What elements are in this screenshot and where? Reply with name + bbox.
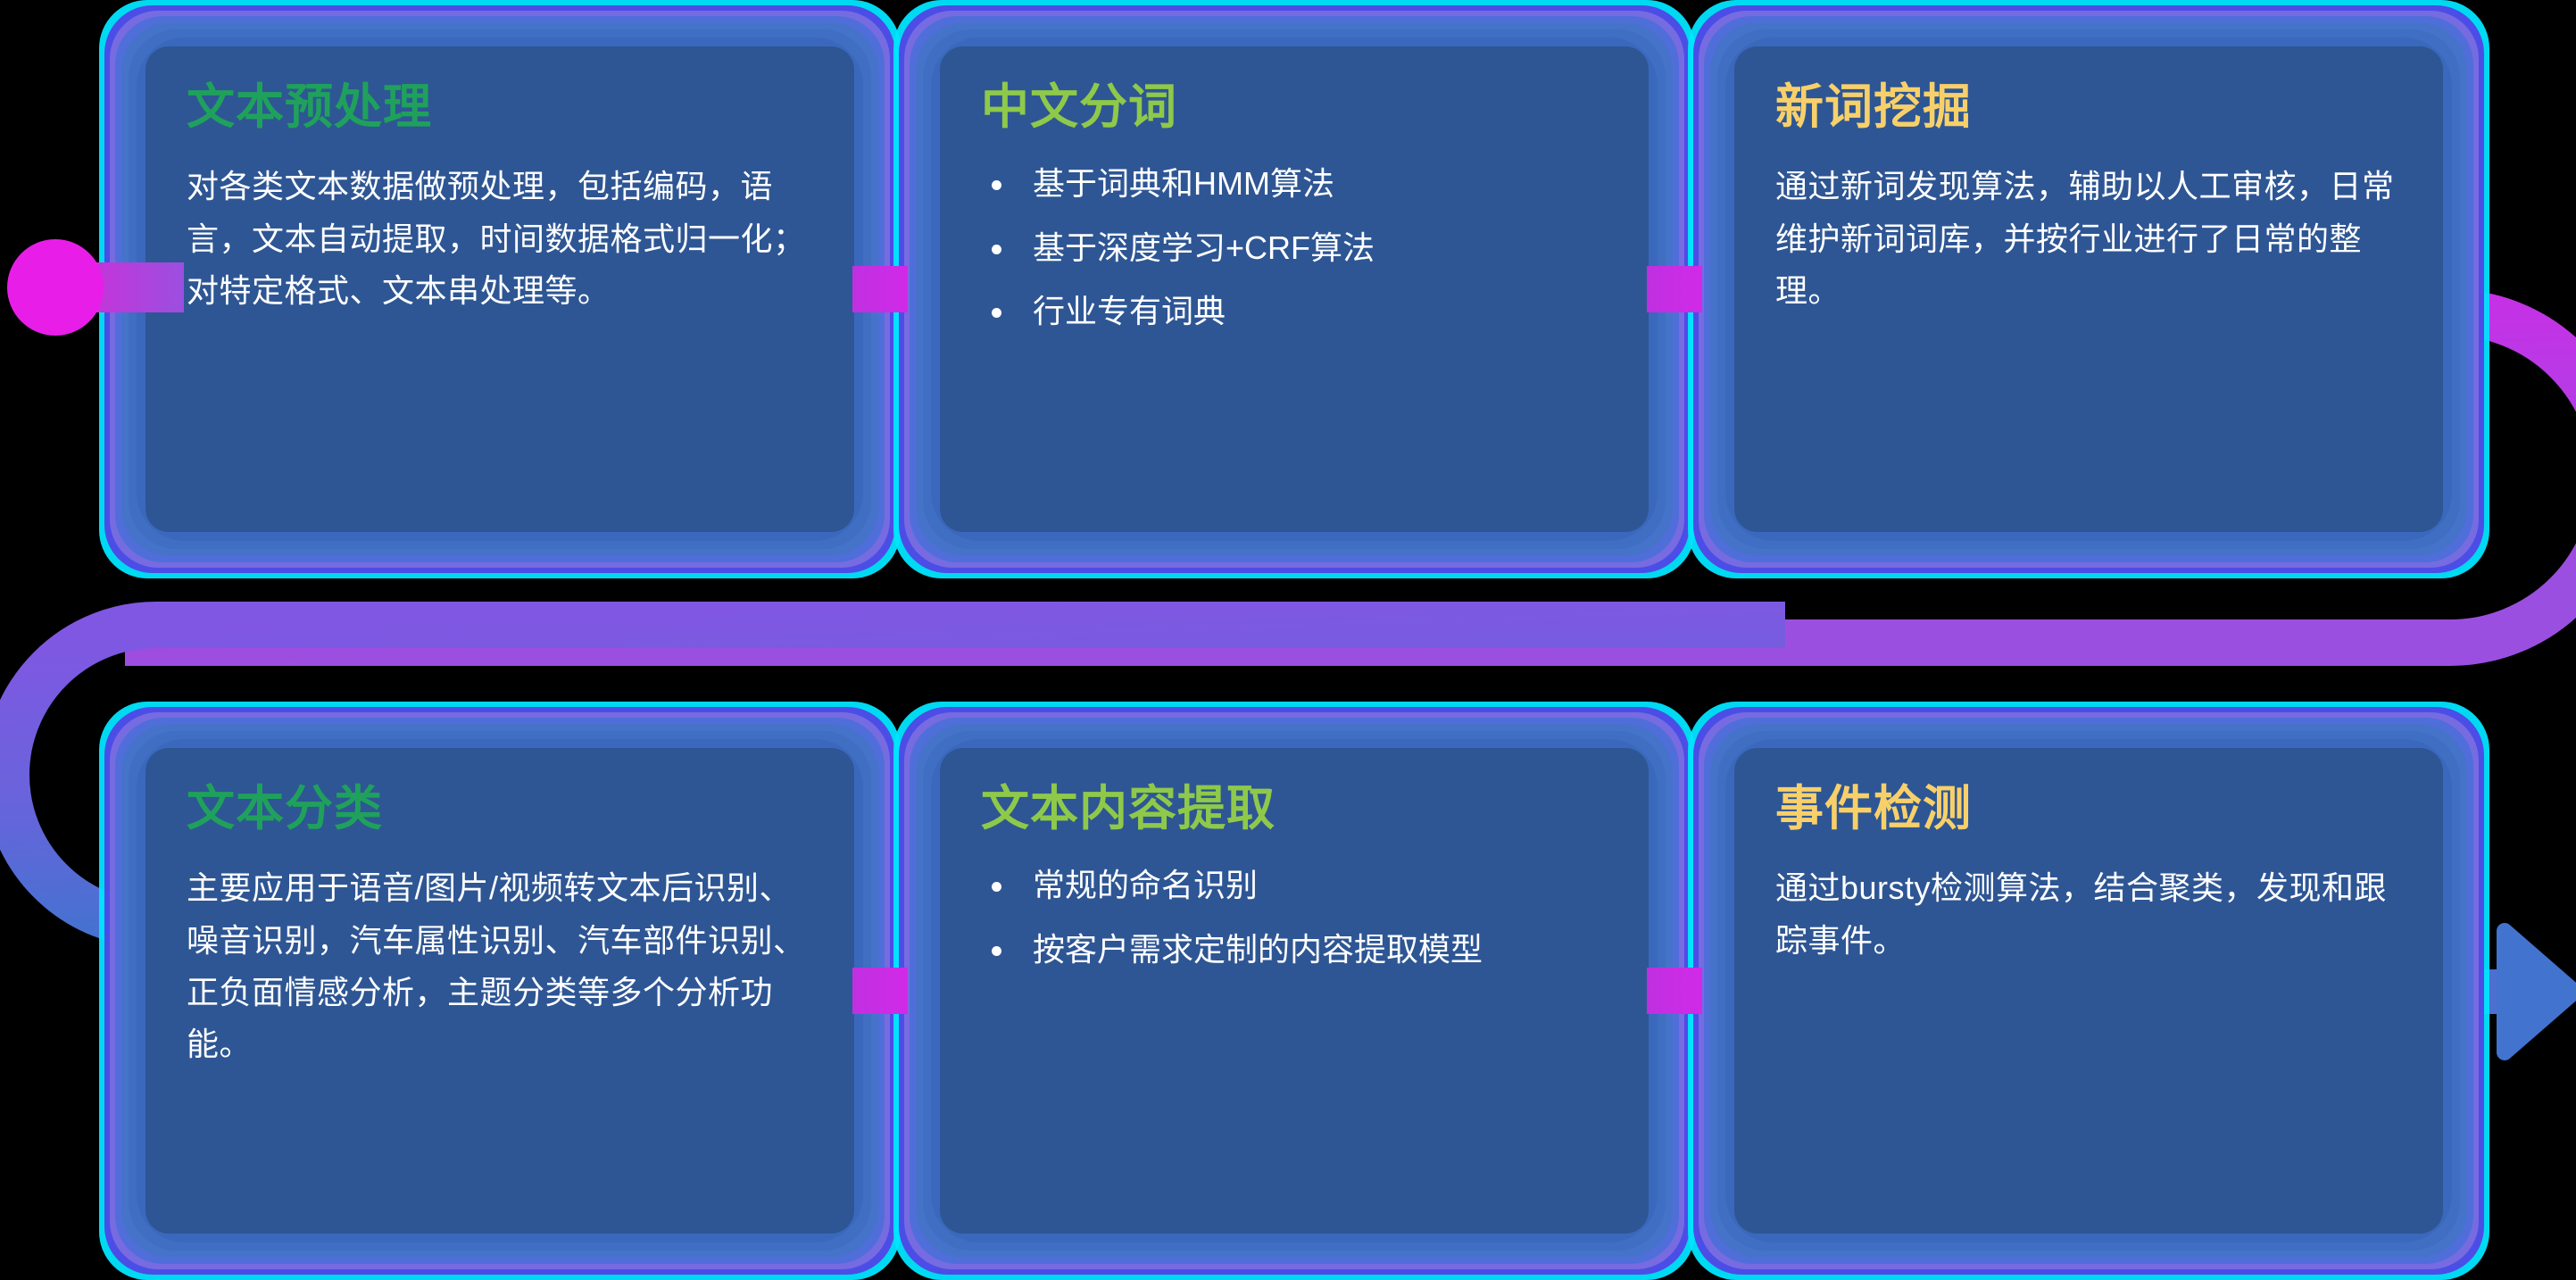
card-surface: 中文分词 基于词典和HMM算法基于深度学习+CRF算法行业专有词典 [940,46,1649,532]
card-surface: 新词挖掘 通过新词发现算法，辅助以人工审核，日常维护新词词库，并按行业进行了日常… [1734,46,2443,532]
end-arrow [2505,931,2574,1052]
diagram-canvas: 文本预处理 对各类文本数据做预处理，包括编码，语言，文本自动提取，时间数据格式归… [0,0,2576,1277]
card-row-top: 文本预处理 对各类文本数据做预处理，包括编码，语言，文本自动提取，时间数据格式归… [103,4,2486,575]
card-new-word-discovery[interactable]: 新词挖掘 通过新词发现算法，辅助以人工审核，日常维护新词词库，并按行业进行了日常… [1691,4,2486,575]
card-surface: 文本内容提取 常规的命名识别按客户需求定制的内容提取模型 [940,748,1649,1234]
card-title: 中文分词 [981,80,1608,134]
connector-bar-bottom-2 [1647,968,1702,1014]
card-title: 文本内容提取 [981,782,1608,835]
card-bullet-item: 按客户需求定制的内容提取模型 [981,927,1608,973]
connector-bar-bottom-1 [852,968,908,1014]
card-title: 新词挖掘 [1775,80,2402,134]
card-paragraph: 对各类文本数据做预处理，包括编码，语言，文本自动提取，时间数据格式归一化；对特定… [187,161,813,317]
card-bullet-item: 基于词典和HMM算法 [981,161,1608,207]
card-bullet-list: 常规的命名识别按客户需求定制的内容提取模型 [981,862,1608,972]
card-paragraph: 主要应用于语音/图片/视频转文本后识别、噪音识别，汽车属性识别、汽车部件识别、正… [187,862,813,1070]
card-paragraph: 通过bursty检测算法，结合聚类，发现和跟踪事件。 [1775,862,2402,967]
connector-bar-top-1 [852,266,908,312]
card-surface: 文本预处理 对各类文本数据做预处理，包括编码，语言，文本自动提取，时间数据格式归… [145,46,854,532]
card-surface: 事件检测 通过bursty检测算法，结合聚类，发现和跟踪事件。 [1734,748,2443,1234]
card-chinese-word-segmentation[interactable]: 中文分词 基于词典和HMM算法基于深度学习+CRF算法行业专有词典 [897,4,1691,575]
card-title: 事件检测 [1775,782,2402,835]
card-bullet-item: 常规的命名识别 [981,862,1608,909]
card-paragraph: 通过新词发现算法，辅助以人工审核，日常维护新词词库，并按行业进行了日常的整理。 [1775,161,2402,317]
card-text-content-extraction[interactable]: 文本内容提取 常规的命名识别按客户需求定制的内容提取模型 [897,705,1691,1276]
card-text-preprocessing[interactable]: 文本预处理 对各类文本数据做预处理，包括编码，语言，文本自动提取，时间数据格式归… [103,4,897,575]
card-bullet-list: 基于词典和HMM算法基于深度学习+CRF算法行业专有词典 [981,161,1608,335]
connector-bar-top-2 [1647,266,1702,312]
card-bullet-item: 基于深度学习+CRF算法 [981,225,1608,271]
card-title: 文本预处理 [187,80,813,134]
card-row-bottom: 文本分类 主要应用于语音/图片/视频转文本后识别、噪音识别，汽车属性识别、汽车部… [103,705,2486,1276]
card-event-detection[interactable]: 事件检测 通过bursty检测算法，结合聚类，发现和跟踪事件。 [1691,705,2486,1276]
flow-start-dot [7,239,104,336]
card-title: 文本分类 [187,782,813,835]
card-bullet-item: 行业专有词典 [981,288,1608,335]
card-text-classification[interactable]: 文本分类 主要应用于语音/图片/视频转文本后识别、噪音识别，汽车属性识别、汽车部… [103,705,897,1276]
card-surface: 文本分类 主要应用于语音/图片/视频转文本后识别、噪音识别，汽车属性识别、汽车部… [145,748,854,1234]
